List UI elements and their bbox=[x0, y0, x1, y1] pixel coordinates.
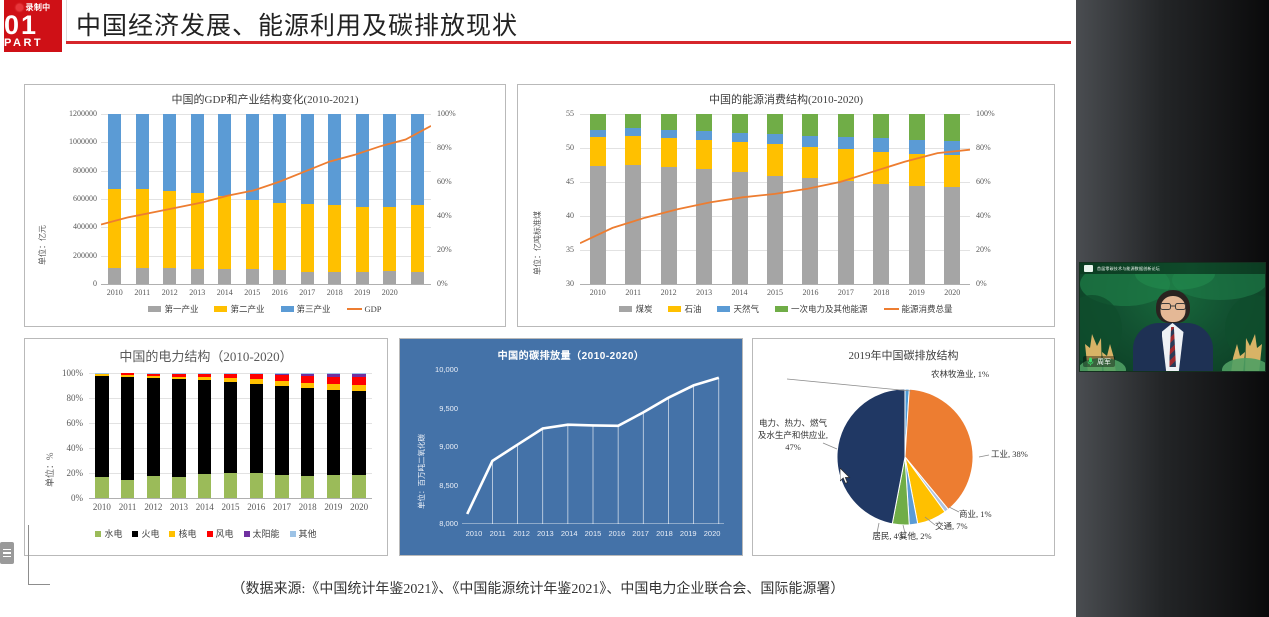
bar-segment-水电 bbox=[198, 474, 211, 498]
legend-square-swatch bbox=[132, 531, 138, 537]
legend-item-2: 核电 bbox=[169, 527, 196, 540]
bar-2012 bbox=[147, 373, 160, 498]
y-tick: 45 bbox=[538, 177, 574, 186]
legend-swatch bbox=[148, 306, 161, 312]
x-tick: 2019 bbox=[676, 529, 700, 538]
bar-segment-水电 bbox=[172, 477, 185, 498]
y-tick: 600000 bbox=[35, 194, 97, 203]
y-tick: 40 bbox=[538, 211, 574, 220]
legend-label: 核电 bbox=[178, 527, 196, 540]
legend-item-0: 煤炭 bbox=[619, 303, 652, 315]
bar-segment-核电 bbox=[275, 381, 288, 386]
legend-swatch bbox=[281, 306, 294, 312]
x-tick: 2011 bbox=[486, 529, 510, 538]
legend-item-1: 第二产业 bbox=[214, 303, 264, 315]
x-tick: 2012 bbox=[140, 502, 166, 512]
y2-tick: 40% bbox=[976, 211, 1016, 220]
pie-label-农林牧渔业: 农林牧渔业, 1% bbox=[931, 369, 1046, 380]
legend-label: 第三产业 bbox=[297, 303, 331, 315]
y-tick: 1000000 bbox=[35, 137, 97, 146]
data-source-note: （数据来源:《中国统计年鉴2021》、《中国能源统计年鉴2021》、中国电力企业… bbox=[0, 578, 1076, 598]
x-tick: 2018 bbox=[653, 529, 677, 538]
x-tick: 2020 bbox=[935, 288, 970, 297]
y-tick: 8,500 bbox=[418, 481, 458, 490]
bar-segment-太阳能 bbox=[198, 373, 211, 374]
pie-chart-panel: 2019年中国碳排放结构 农林牧渔业, 1%工业, 38%商业, 1%交通, 7… bbox=[752, 338, 1055, 556]
power-chart-panel: 中国的电力结构（2010-2020） 单位：% 0%20%40%60%80%10… bbox=[24, 338, 388, 556]
x-tick: 2016 bbox=[243, 502, 269, 512]
y2-tick: 100% bbox=[437, 109, 477, 118]
legend-line-swatch bbox=[884, 308, 899, 310]
y2-tick: 20% bbox=[976, 245, 1016, 254]
energy-legend: 煤炭石油天然气一次电力及其他能源能源消费总量 bbox=[518, 303, 1054, 315]
x-tick: 2013 bbox=[184, 288, 212, 297]
carbon-chart-title: 中国的碳排放量（2010-2020） bbox=[400, 347, 742, 362]
participant-name-badge: 周军 bbox=[1083, 356, 1115, 367]
video-banner-text: 首届零碳技术与能源数据创新论坛 bbox=[1097, 266, 1160, 272]
energy-y-axis-label: 单位：亿吨标准煤 bbox=[532, 211, 543, 275]
legend-label: 天然气 bbox=[733, 303, 759, 315]
y2-tick: 40% bbox=[437, 211, 477, 220]
legend-label: 石油 bbox=[684, 303, 701, 315]
gdp-chart-title: 中国的GDP和产业结构变化(2010-2021) bbox=[25, 91, 505, 107]
pie-label-电力、热力、燃气及水生产和供应业: 电力、热力、燃气及水生产和供应业, 47% bbox=[755, 417, 831, 453]
bar-segment-火电 bbox=[224, 382, 237, 474]
legend-label: 第一产业 bbox=[164, 303, 198, 315]
bar-segment-风电 bbox=[301, 376, 314, 383]
bar-segment-水电 bbox=[224, 473, 237, 498]
y-tick: 200000 bbox=[35, 251, 97, 260]
legend-square-swatch bbox=[95, 531, 101, 537]
x-tick: 2011 bbox=[129, 288, 157, 297]
page-title: 中国经济发展、能源利用及碳排放现状 bbox=[76, 6, 518, 42]
bar-segment-火电 bbox=[301, 388, 314, 476]
gdp-plot-area bbox=[101, 114, 431, 284]
bar-segment-水电 bbox=[301, 476, 314, 498]
y-tick: 60% bbox=[49, 418, 83, 428]
x-tick: 2014 bbox=[557, 529, 581, 538]
bar-segment-水电 bbox=[147, 476, 160, 498]
x-tick: 2015 bbox=[218, 502, 244, 512]
bar-segment-核电 bbox=[224, 378, 237, 382]
x-tick: 2012 bbox=[651, 288, 686, 297]
bar-segment-火电 bbox=[147, 378, 160, 475]
y-tick: 9,500 bbox=[418, 404, 458, 413]
bar-segment-水电 bbox=[327, 475, 340, 498]
y-tick: 0 bbox=[35, 279, 97, 288]
bar-2013 bbox=[172, 373, 185, 498]
legend-label: 水电 bbox=[104, 527, 122, 540]
gdp-legend: 第一产业第二产业第三产业GDP bbox=[25, 303, 505, 315]
participant-name: 周军 bbox=[1097, 357, 1111, 367]
bar-2017 bbox=[275, 373, 288, 498]
legend-label: 太阳能 bbox=[253, 527, 280, 540]
bar-segment-太阳能 bbox=[275, 373, 288, 375]
legend-label: 第二产业 bbox=[230, 303, 264, 315]
x-tick: 2011 bbox=[615, 288, 650, 297]
legend-label: 火电 bbox=[141, 527, 159, 540]
slide-frame-line-2 bbox=[28, 584, 50, 585]
title-divider bbox=[66, 0, 67, 42]
x-tick: 2013 bbox=[533, 529, 557, 538]
gridline bbox=[580, 284, 970, 285]
bar-segment-核电 bbox=[121, 375, 134, 377]
part-word: PART bbox=[4, 37, 62, 49]
bar-segment-风电 bbox=[172, 374, 185, 377]
x-tick: 2018 bbox=[295, 502, 321, 512]
bar-segment-核电 bbox=[198, 377, 211, 380]
x-tick: 2020 bbox=[700, 529, 724, 538]
legend-swatch bbox=[668, 306, 681, 312]
bar-segment-火电 bbox=[352, 391, 365, 476]
energy-plot-area bbox=[580, 114, 970, 284]
legend-item-2: 第三产业 bbox=[281, 303, 331, 315]
bar-segment-风电 bbox=[198, 374, 211, 378]
y2-tick: 60% bbox=[976, 177, 1016, 186]
legend-square-swatch bbox=[244, 531, 250, 537]
x-tick: 2011 bbox=[115, 502, 141, 512]
legend-label: 一次电力及其他能源 bbox=[791, 303, 868, 315]
x-tick: 2020 bbox=[376, 288, 404, 297]
x-tick: 2015 bbox=[757, 288, 792, 297]
x-tick: 2012 bbox=[156, 288, 184, 297]
x-tick: 2020 bbox=[346, 502, 372, 512]
x-tick: 2019 bbox=[899, 288, 934, 297]
legend-swatch bbox=[214, 306, 227, 312]
energy-chart-panel: 中国的能源消费结构(2010-2020) 单位：亿吨标准煤 3035404550… bbox=[517, 84, 1055, 327]
y2-tick: 80% bbox=[437, 143, 477, 152]
bar-segment-火电 bbox=[95, 376, 108, 477]
legend-item-4: 太阳能 bbox=[244, 527, 280, 540]
y-tick: 55 bbox=[538, 109, 574, 118]
bar-2020 bbox=[352, 373, 365, 498]
pie-label-居民: 居民, 4% bbox=[849, 531, 905, 542]
bar-segment-核电 bbox=[327, 384, 340, 390]
y2-tick: 100% bbox=[976, 109, 1016, 118]
x-tick: 2015 bbox=[581, 529, 605, 538]
legend-swatch bbox=[717, 306, 730, 312]
bar-2019 bbox=[327, 373, 340, 498]
y-tick: 800000 bbox=[35, 166, 97, 175]
y-tick: 9,000 bbox=[418, 442, 458, 451]
x-tick: 2012 bbox=[510, 529, 534, 538]
x-tick: 2019 bbox=[349, 288, 377, 297]
gridline bbox=[101, 284, 431, 285]
bar-segment-核电 bbox=[147, 376, 160, 379]
y-tick: 35 bbox=[538, 245, 574, 254]
bar-segment-太阳能 bbox=[301, 373, 314, 376]
part-number: 01 bbox=[4, 10, 62, 40]
pie-label-商业: 商业, 1% bbox=[959, 509, 1029, 520]
legend-item-0: 第一产业 bbox=[148, 303, 198, 315]
video-participant-tile[interactable]: 首届零碳技术与能源数据创新论坛 周军 bbox=[1079, 262, 1266, 372]
video-banner: 首届零碳技术与能源数据创新论坛 bbox=[1080, 263, 1265, 274]
legend-item-3: 风电 bbox=[207, 527, 234, 540]
bar-2011 bbox=[121, 373, 134, 498]
x-tick: 2014 bbox=[192, 502, 218, 512]
x-tick: 2018 bbox=[864, 288, 899, 297]
organization-logo-icon bbox=[1084, 265, 1093, 272]
bar-segment-风电 bbox=[224, 374, 237, 378]
bar-2016 bbox=[250, 373, 263, 498]
y-tick: 400000 bbox=[35, 222, 97, 231]
bar-segment-火电 bbox=[198, 380, 211, 474]
bar-segment-火电 bbox=[275, 386, 288, 474]
pie-graphic: 农林牧渔业, 1%工业, 38%商业, 1%交通, 7%其他, 2%居民, 4%… bbox=[753, 339, 1056, 557]
bar-segment-核电 bbox=[95, 374, 108, 376]
bar-segment-太阳能 bbox=[327, 373, 340, 377]
y2-tick: 0% bbox=[976, 279, 1016, 288]
x-tick: 2016 bbox=[266, 288, 294, 297]
bar-segment-水电 bbox=[121, 480, 134, 499]
slide-frame-line bbox=[28, 525, 29, 585]
pie-slice-电力、热力、燃气及水生产和供应业 bbox=[837, 389, 905, 524]
y-tick: 20% bbox=[49, 468, 83, 478]
x-tick: 2017 bbox=[294, 288, 322, 297]
legend-label: 风电 bbox=[216, 527, 234, 540]
microphone-icon bbox=[1087, 357, 1094, 366]
bar-segment-水电 bbox=[352, 475, 365, 498]
bar-segment-核电 bbox=[250, 379, 263, 383]
legend-item-2: 天然气 bbox=[717, 303, 759, 315]
power-chart-title: 中国的电力结构（2010-2020） bbox=[25, 346, 387, 365]
carbon-chart-panel: 中国的碳排放量（2010-2020） 单位：百万吨二氧化碳 8,0008,500… bbox=[399, 338, 743, 556]
bar-segment-核电 bbox=[352, 385, 365, 391]
screen: 录制中 01 PART 中国经济发展、能源利用及碳排放现状 中国的GDP和产业结… bbox=[0, 0, 1269, 617]
carbon-line-series bbox=[462, 370, 724, 524]
legend-swatch bbox=[775, 306, 788, 312]
legend-square-swatch bbox=[290, 531, 296, 537]
y2-tick: 0% bbox=[437, 279, 477, 288]
mouse-cursor bbox=[840, 468, 851, 484]
x-tick: 2016 bbox=[793, 288, 828, 297]
bar-segment-太阳能 bbox=[352, 373, 365, 377]
bar-2018 bbox=[301, 373, 314, 498]
bar-segment-火电 bbox=[250, 384, 263, 473]
legend-item-1: 石油 bbox=[668, 303, 701, 315]
y-tick: 8,000 bbox=[418, 519, 458, 528]
bar-segment-风电 bbox=[95, 373, 108, 374]
bar-segment-火电 bbox=[172, 379, 185, 476]
bar-segment-水电 bbox=[95, 477, 108, 498]
gdp-chart-panel: 中国的GDP和产业结构变化(2010-2021) 单位：亿元 020000040… bbox=[24, 84, 506, 327]
legend-label: 能源消费总量 bbox=[902, 303, 953, 315]
x-tick: 2014 bbox=[211, 288, 239, 297]
legend-item-1: 火电 bbox=[132, 527, 159, 540]
y2-tick: 20% bbox=[437, 245, 477, 254]
hamburger-menu-icon[interactable] bbox=[0, 542, 14, 564]
bar-segment-核电 bbox=[172, 377, 185, 380]
legend-swatch bbox=[619, 306, 632, 312]
y2-tick: 80% bbox=[976, 143, 1016, 152]
gdp-line-series bbox=[101, 114, 431, 284]
legend-item-5: 其他 bbox=[290, 527, 317, 540]
title-underline bbox=[66, 41, 1071, 44]
y-tick: 100% bbox=[49, 368, 83, 378]
x-tick: 2017 bbox=[269, 502, 295, 512]
legend-item-0: 水电 bbox=[95, 527, 122, 540]
legend-label: 煤炭 bbox=[635, 303, 652, 315]
bar-2010 bbox=[95, 373, 108, 498]
x-tick: 2017 bbox=[828, 288, 863, 297]
bar-segment-太阳能 bbox=[224, 373, 237, 374]
bar-2015 bbox=[224, 373, 237, 498]
bar-segment-风电 bbox=[121, 373, 134, 375]
participant-glasses bbox=[1160, 303, 1186, 310]
y2-tick: 60% bbox=[437, 177, 477, 186]
pie-label-工业: 工业, 38% bbox=[991, 449, 1053, 460]
x-tick: 2016 bbox=[605, 529, 629, 538]
y-tick: 10,000 bbox=[418, 365, 458, 374]
presentation-slide: 录制中 01 PART 中国经济发展、能源利用及碳排放现状 中国的GDP和产业结… bbox=[0, 0, 1076, 617]
x-tick: 2010 bbox=[580, 288, 615, 297]
power-plot-area bbox=[89, 373, 372, 498]
y-tick: 30 bbox=[538, 279, 574, 288]
x-tick: 2019 bbox=[321, 502, 347, 512]
legend-label: GDP bbox=[365, 304, 382, 314]
bar-segment-风电 bbox=[327, 377, 340, 384]
legend-line-swatch bbox=[347, 308, 362, 310]
legend-item-4: 能源消费总量 bbox=[884, 303, 953, 315]
x-tick: 2017 bbox=[629, 529, 653, 538]
x-tick: 2014 bbox=[722, 288, 757, 297]
bar-segment-风电 bbox=[250, 374, 263, 379]
bar-segment-太阳能 bbox=[250, 373, 263, 374]
gridline bbox=[89, 498, 372, 499]
x-tick: 2010 bbox=[101, 288, 129, 297]
x-tick: 2018 bbox=[321, 288, 349, 297]
y-tick: 0% bbox=[49, 493, 83, 503]
x-tick: 2013 bbox=[166, 502, 192, 512]
carbon-plot-area bbox=[462, 370, 724, 524]
x-tick: 2015 bbox=[239, 288, 267, 297]
legend-item-3: GDP bbox=[347, 304, 382, 314]
bar-2014 bbox=[198, 373, 211, 498]
y-tick: 1200000 bbox=[35, 109, 97, 118]
x-tick: 2010 bbox=[462, 529, 486, 538]
y-tick: 50 bbox=[538, 143, 574, 152]
bar-segment-核电 bbox=[301, 383, 314, 388]
bar-segment-风电 bbox=[147, 373, 160, 376]
legend-label: 其他 bbox=[299, 527, 317, 540]
bar-segment-水电 bbox=[250, 473, 263, 498]
x-tick: 2013 bbox=[686, 288, 721, 297]
bar-segment-火电 bbox=[327, 390, 340, 476]
energy-chart-title: 中国的能源消费结构(2010-2020) bbox=[518, 91, 1054, 107]
bar-segment-风电 bbox=[352, 377, 365, 385]
x-tick: 2010 bbox=[89, 502, 115, 512]
bar-segment-水电 bbox=[275, 475, 288, 498]
energy-line-series bbox=[580, 114, 970, 284]
bar-segment-火电 bbox=[121, 377, 134, 480]
power-legend: 水电火电核电风电太阳能其他 bbox=[25, 527, 387, 540]
y-tick: 40% bbox=[49, 443, 83, 453]
bar-segment-风电 bbox=[275, 375, 288, 381]
y-tick: 80% bbox=[49, 393, 83, 403]
pie-label-其他: 其他, 2% bbox=[899, 531, 959, 542]
legend-item-3: 一次电力及其他能源 bbox=[775, 303, 868, 315]
legend-square-swatch bbox=[169, 531, 175, 537]
legend-square-swatch bbox=[207, 531, 213, 537]
